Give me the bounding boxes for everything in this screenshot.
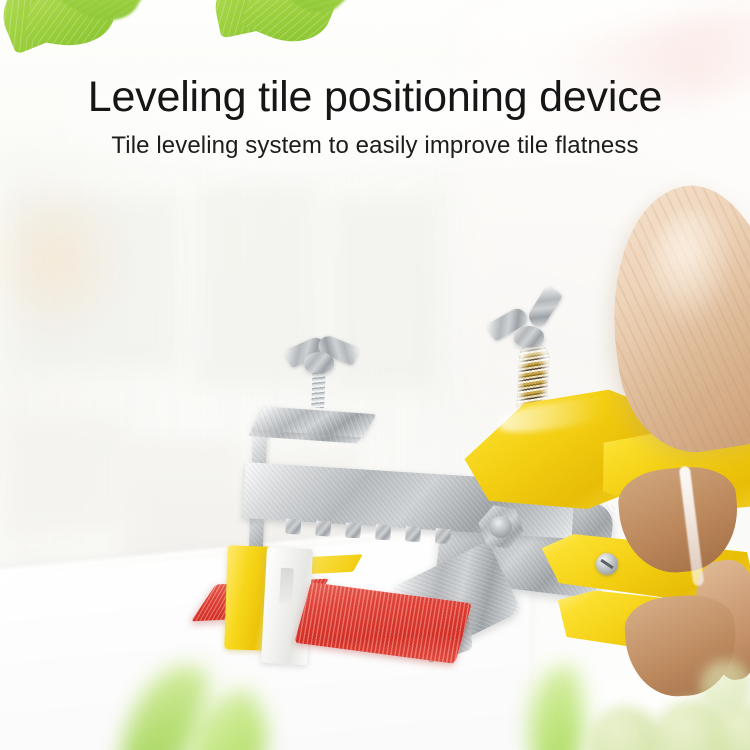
wing-hub-right [514, 326, 544, 347]
page-title: Leveling tile positioning device [0, 74, 750, 121]
product-banner: Leveling tile positioning device Tile le… [0, 0, 750, 750]
bar-tooth [315, 521, 331, 537]
bar-tooth [285, 519, 301, 535]
wing-hub-left [304, 352, 334, 373]
bar-tooth [345, 522, 361, 538]
bar-tooth [375, 524, 391, 540]
fruit-d [700, 660, 750, 712]
thumb-highlight [650, 210, 736, 330]
handle-screw [596, 553, 618, 575]
bar-tooth [435, 528, 451, 544]
bar-tooth [405, 526, 421, 542]
wing-right-b [525, 286, 562, 330]
page-subtitle: Tile leveling system to easily improve t… [0, 132, 750, 160]
white-clip-slot [279, 568, 294, 605]
